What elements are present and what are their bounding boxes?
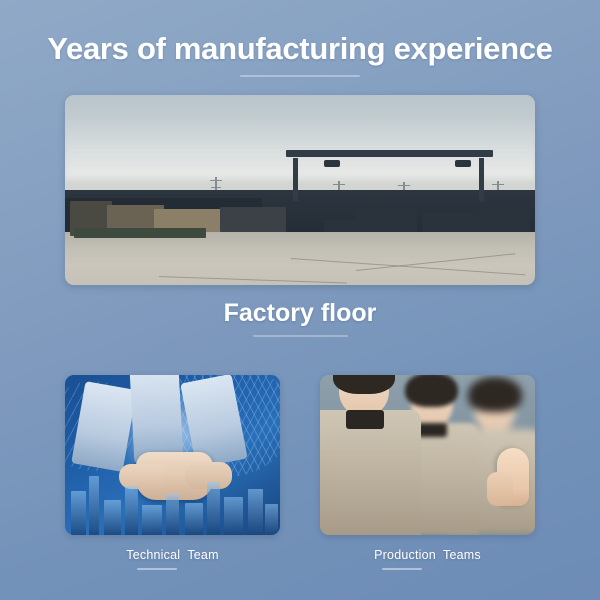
haze-layer xyxy=(65,114,535,179)
title-underline-accent xyxy=(240,75,360,77)
gantry-hoist xyxy=(455,160,471,167)
skyline-tower xyxy=(166,494,179,535)
caption-underline-accent xyxy=(382,568,422,570)
gantry-crane-beam xyxy=(286,150,493,157)
thumbs-up-icon xyxy=(497,448,529,506)
production-teams-photo xyxy=(320,375,535,535)
poster-root: Years of manufacturing experience xyxy=(0,0,600,600)
headline-block: Years of manufacturing experience xyxy=(0,32,600,77)
page-title: Years of manufacturing experience xyxy=(0,32,600,66)
skyline-tower xyxy=(142,505,161,535)
gantry-hoist xyxy=(324,160,340,167)
card-technical-team: Technical Team xyxy=(65,375,280,570)
skyline-tower xyxy=(265,504,278,535)
skyline-tower xyxy=(207,482,220,535)
worker-figure-front xyxy=(320,375,419,535)
section-label-block: Factory floor xyxy=(0,300,600,337)
caption-underline-accent xyxy=(137,568,177,570)
skyline-tower xyxy=(104,500,121,535)
skyline-tower xyxy=(248,489,263,535)
worker-collar xyxy=(417,423,447,437)
city-skyline xyxy=(65,465,280,535)
material-pile xyxy=(220,207,286,232)
skyline-tower xyxy=(71,491,86,535)
card-caption-technical-team: Technical Team xyxy=(65,548,280,562)
gantry-crane-leg xyxy=(293,158,298,202)
card-production-teams: Production Teams xyxy=(320,375,535,570)
skyline-tower xyxy=(224,497,243,535)
section-underline-accent xyxy=(253,335,348,337)
suit-sleeve xyxy=(129,375,183,463)
team-cards-row: Technical Team xyxy=(0,375,600,585)
gantry-crane-leg xyxy=(479,158,484,202)
skyline-tower xyxy=(125,486,138,535)
factory-yard-photo xyxy=(65,95,535,285)
worker-collar xyxy=(346,410,385,429)
skyline-tower xyxy=(89,476,100,535)
card-caption-production-teams: Production Teams xyxy=(320,548,535,562)
technical-team-photo xyxy=(65,375,280,535)
skyline-tower xyxy=(185,503,202,535)
material-pile xyxy=(74,228,206,238)
section-title: Factory floor xyxy=(0,300,600,328)
